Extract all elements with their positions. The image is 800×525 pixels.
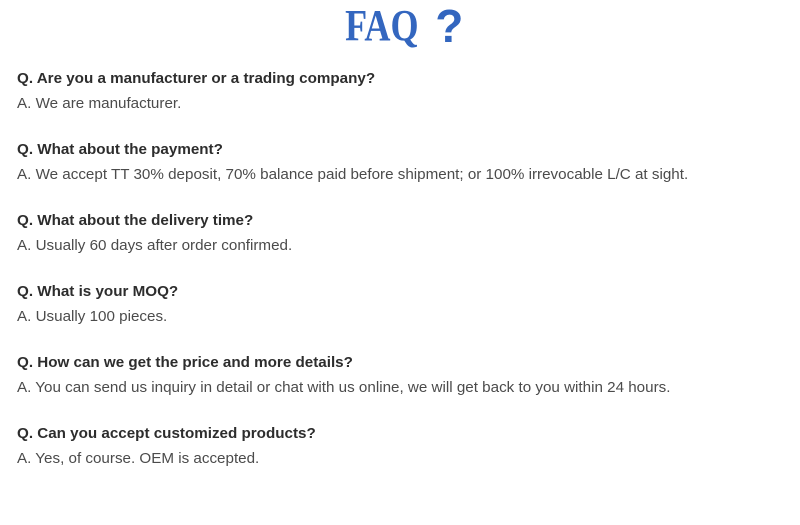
faq-question: Q. Can you accept customized products? xyxy=(17,421,784,446)
faq-answer: A. We are manufacturer. xyxy=(17,91,784,116)
faq-question: Q. How can we get the price and more det… xyxy=(17,350,784,375)
question-mark-icon: ? xyxy=(435,4,463,48)
faq-item: Q. Can you accept customized products? A… xyxy=(17,421,784,471)
faq-page: FAQ? Q. Are you a manufacturer or a trad… xyxy=(0,0,800,525)
faq-answer: A. You can send us inquiry in detail or … xyxy=(17,375,784,400)
faq-answer: A. Usually 60 days after order confirmed… xyxy=(17,233,784,258)
faq-item: Q. What about the payment? A. We accept … xyxy=(17,137,784,187)
page-title: FAQ? xyxy=(0,0,800,52)
faq-answer: A. We accept TT 30% deposit, 70% balance… xyxy=(17,162,784,187)
faq-item: Q. How can we get the price and more det… xyxy=(17,350,784,400)
faq-question: Q. What about the payment? xyxy=(17,137,784,162)
faq-item: Q. Are you a manufacturer or a trading c… xyxy=(17,66,784,116)
faq-answer: A. Yes, of course. OEM is accepted. xyxy=(17,446,784,471)
faq-question: Q. What about the delivery time? xyxy=(17,208,784,233)
faq-question: Q. What is your MOQ? xyxy=(17,279,784,304)
faq-list: Q. Are you a manufacturer or a trading c… xyxy=(0,66,800,471)
faq-question: Q. Are you a manufacturer or a trading c… xyxy=(17,66,784,91)
page-title-text: FAQ xyxy=(345,4,418,48)
faq-answer: A. Usually 100 pieces. xyxy=(17,304,784,329)
faq-item: Q. What is your MOQ? A. Usually 100 piec… xyxy=(17,279,784,329)
faq-item: Q. What about the delivery time? A. Usua… xyxy=(17,208,784,258)
